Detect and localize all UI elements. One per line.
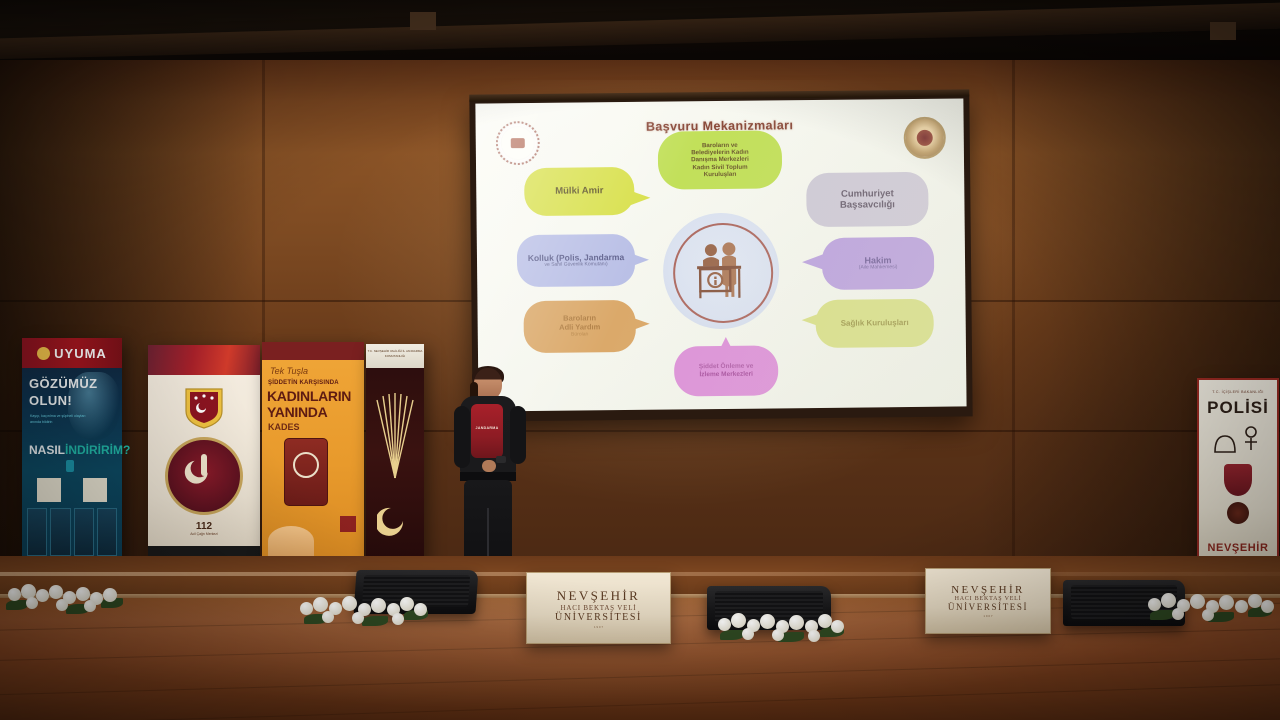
emergency-label: Acil Çağrı Merkezi	[190, 532, 218, 536]
information-desk-icon	[689, 241, 754, 304]
bubble-line: Kuruluşları	[704, 171, 737, 179]
projection-screen: Başvuru Mekanizmaları Baroların ve Beled…	[469, 94, 972, 421]
bubble-saglik-kuruluslari: Sağlık Kuruluşları	[815, 299, 933, 348]
uyuma-step	[97, 508, 117, 556]
floor-plank-seam	[0, 655, 1280, 698]
qr-code-icon	[37, 478, 61, 502]
lectern-plaque: NEVŞEHİR HACI BEKTAŞ VELİ ÜNİVERSİTESİ 1…	[925, 568, 1051, 634]
uyuma-phone-icon	[66, 460, 74, 472]
polis-city-label: NEVŞEHİR	[1199, 542, 1277, 554]
bubble-line: Başsavcılığı	[840, 199, 895, 211]
flower-arrangement	[6, 584, 124, 620]
polis-seal-icon	[1227, 502, 1249, 524]
banner-uyuma: UYUMA GÖZÜMÜZ OLUN! Kayıp, kaçırılma ve …	[22, 338, 122, 560]
bubble-baro-belediye: Baroların ve Belediyelerin Kadın Danışma…	[658, 130, 783, 189]
polis-word: POLİSİ	[1199, 398, 1277, 418]
flower-arrangement	[718, 612, 846, 648]
kades-line-4: KADES	[268, 422, 300, 432]
presenter-arm-right	[510, 406, 526, 464]
plaque-line-4: 1 9 0 7	[594, 625, 603, 629]
bubble-line: ve Sahil Güvenlik Komutanı)	[544, 262, 607, 269]
plaque-line-4: 1 9 0 7	[983, 614, 992, 618]
plaque-line-1: NEVŞEHİR	[557, 588, 640, 604]
uyuma-step	[50, 508, 70, 556]
kades-line-2: KADINLARIN	[267, 388, 351, 404]
bubble-line: Sağlık Kuruluşları	[841, 318, 909, 328]
bubble-sonim: Şiddet Önleme ve İzleme Merkezleri	[674, 345, 779, 396]
uyuma-brand: UYUMA	[54, 346, 107, 361]
lectern-plaque: NEVŞEHİR HACI BEKTAŞ VELİ ÜNİVERSİTESİ 1…	[526, 572, 671, 644]
bubble-mulki-amir: Mülki Amir	[524, 167, 634, 216]
jandarma-seal-icon	[165, 437, 243, 515]
bubble-line: İzleme Merkezleri	[699, 371, 753, 379]
plaque-line-2: HACI BEKTAŞ VELİ	[561, 604, 637, 612]
bubble-tail	[812, 192, 834, 208]
uyuma-qr-row	[28, 478, 116, 502]
flag-header: T.C. NEVŞEHİR VALİLİĞİ İL JANDARMA KOMUT…	[366, 344, 424, 368]
presenter-vest	[471, 404, 503, 458]
uyuma-steps	[27, 508, 117, 556]
emergency-number: 112	[190, 521, 218, 532]
bubble-adli-yardim: Baroların Adli Yardım Büroları	[523, 300, 636, 353]
kades-logo-icon	[340, 516, 356, 532]
bubble-line: Mülki Amir	[555, 186, 603, 198]
uyuma-step	[74, 508, 94, 556]
presentation-slide: Başvuru Mekanizmaları Baroların ve Beled…	[475, 98, 966, 411]
beam-bracket	[410, 12, 436, 30]
bubble-line: (Aile Mahkemesi)	[859, 266, 898, 272]
jandarma-flag-top	[148, 345, 260, 375]
presenter-vest-text: JANDARMA	[472, 426, 502, 430]
kades-script-line: Tek Tuşla	[270, 366, 308, 376]
banner-jandarma: 112 Acil Çağrı Merkezi	[148, 345, 260, 560]
wheat-rays-icon	[371, 390, 419, 480]
presenter-hands	[482, 460, 496, 472]
uyuma-cta-main: NASIL	[29, 443, 65, 457]
bubble-line: Büroları	[571, 332, 589, 338]
kades-phone-icon	[284, 438, 328, 506]
polis-graphic-icon	[1199, 422, 1277, 456]
bubble-tail	[628, 190, 650, 206]
bubble-line: Cumhuriyet	[841, 188, 894, 200]
uyuma-headline-2: OLUN!	[29, 393, 72, 408]
bubble-tail	[802, 312, 824, 328]
crescent-star-icon	[377, 504, 413, 540]
flower-arrangement	[1148, 592, 1276, 628]
kades-line-1: ŞİDDETİN KARŞISINDA	[268, 380, 339, 386]
uyuma-header: UYUMA	[22, 338, 122, 368]
flower-arrangement	[300, 594, 430, 630]
turkish-state-crest-icon	[182, 383, 226, 429]
kades-hand-photo	[268, 526, 314, 556]
banner-kades: Tek Tuşla ŞİDDETİN KARŞISINDA KADINLARIN…	[262, 342, 364, 562]
beam-bracket	[1210, 22, 1236, 40]
qr-code-icon	[83, 478, 107, 502]
polis-small-line: T.C. İÇİŞLERİ BAKANLIĞI	[1199, 390, 1277, 394]
photo-scene: Başvuru Mekanizmaları Baroların ve Beled…	[0, 0, 1280, 720]
floor-plank-seam	[0, 680, 1280, 720]
plaque-line-3: ÜNİVERSİTESİ	[948, 602, 1028, 612]
polis-shield-icon	[1224, 464, 1252, 496]
banner-jandarma-flag: T.C. NEVŞEHİR VALİLİĞİ İL JANDARMA KOMUT…	[366, 344, 424, 562]
uyuma-cta-accent: İNDİRİRİM?	[65, 443, 130, 457]
uyuma-headline-1: GÖZÜMÜZ	[29, 376, 98, 391]
uyuma-logo-icon	[37, 347, 50, 360]
bubble-tail	[802, 254, 824, 270]
uyuma-step	[27, 508, 47, 556]
bubble-hakim: Hakim (Aile Mahkemesi)	[822, 237, 935, 290]
bubble-tail	[627, 252, 649, 268]
presenter-clicker	[496, 456, 506, 463]
emergency-number-block: 112 Acil Çağrı Merkezi	[190, 521, 218, 536]
kades-header	[262, 342, 364, 360]
flag-header-text: T.C. NEVŞEHİR VALİLİĞİ İL JANDARMA KOMUT…	[366, 349, 424, 358]
plaque-line-3: ÜNİVERSİTESİ	[555, 612, 642, 623]
banner-polis-nevsehir: T.C. İÇİŞLERİ BAKANLIĞI POLİSİ NEVŞEHİR	[1197, 378, 1279, 564]
uyuma-subtext: Kayıp, kaçırılma ve şüpheli olayları anı…	[30, 414, 90, 426]
presenter-arm-left	[454, 406, 470, 468]
bubble-tail	[628, 316, 650, 332]
kades-line-3: YANINDA	[267, 404, 327, 420]
bubble-kolluk: Kolluk (Polis, Jandarma ve Sahil Güvenli…	[517, 234, 636, 287]
uyuma-cta: NASILİNDİRİRİM?	[29, 443, 130, 457]
plaque-line-1: NEVŞEHİR	[951, 584, 1025, 596]
